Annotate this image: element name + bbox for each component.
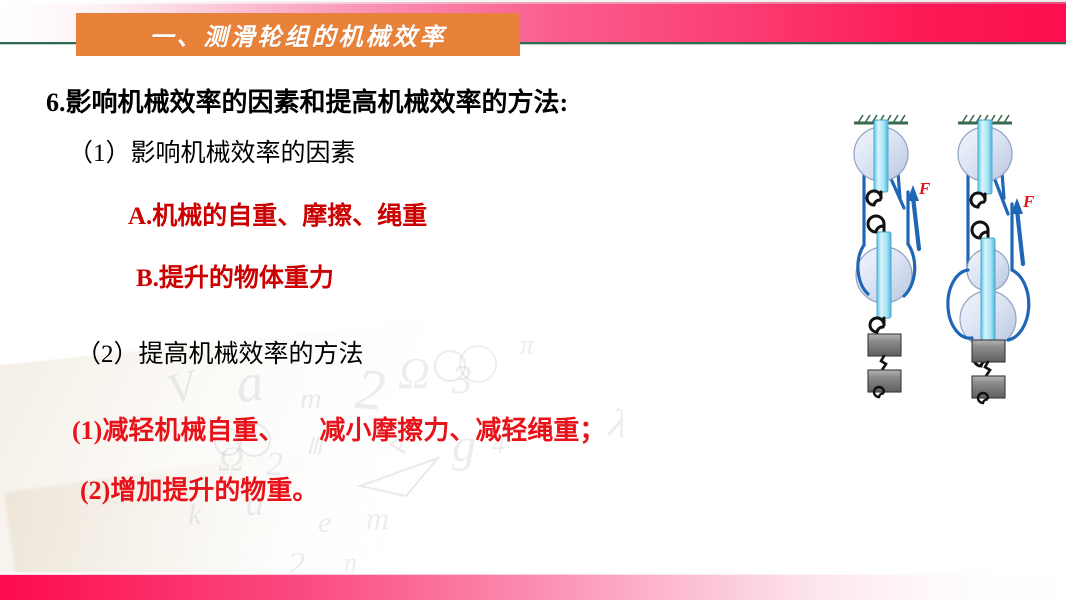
factor-item-a: A.机械的自重、摩擦、绳重 bbox=[128, 196, 427, 232]
right-force-label: F bbox=[1022, 192, 1035, 211]
slide-canvas: V a m 2 Ω 3 Ω 2 Ⅲ ∢ g 4 k a e m 2 n λ π bbox=[0, 0, 1066, 600]
right-movable-block-hook-icon bbox=[972, 222, 988, 240]
subsection-2-label: （2）提高机械效率的方法 bbox=[76, 334, 364, 370]
factor-item-b: B.提升的物体重力 bbox=[136, 258, 334, 294]
left-weight-lower bbox=[868, 370, 901, 392]
pulley-diagram-svg: F bbox=[838, 112, 1066, 412]
right-movable-block-yoke bbox=[981, 238, 995, 352]
left-fixed-pulley-hook-icon bbox=[867, 191, 881, 205]
method-item-1-part-b: 减小摩擦力、减轻绳重； bbox=[319, 416, 605, 445]
left-lower-hook-icon bbox=[870, 318, 884, 332]
right-weight-upper bbox=[972, 340, 1005, 362]
right-fixed-pulley-hook-icon bbox=[971, 193, 985, 207]
left-weight-upper bbox=[868, 334, 901, 356]
method-item-1: (1)减轻机械自重、 减小摩擦力、减轻绳重； bbox=[72, 410, 605, 447]
subsection-1-label: （1）影响机械效率的因素 bbox=[68, 133, 356, 169]
method-item-2: (2)增加提升的物重。 bbox=[80, 470, 318, 507]
right-pulley-figure: F bbox=[948, 115, 1035, 403]
left-weight-connector bbox=[881, 356, 886, 370]
pulley-diagrams: F bbox=[838, 112, 1066, 412]
left-movable-pulley-yoke bbox=[877, 232, 891, 318]
method-item-1-part-a: (1)减轻机械自重、 bbox=[72, 416, 284, 445]
right-fixed-pulley-yoke bbox=[978, 120, 992, 194]
right-weight-lower bbox=[972, 376, 1005, 398]
left-movable-block-hook-icon bbox=[868, 216, 884, 232]
right-weight-connector bbox=[985, 362, 990, 376]
left-force-label: F bbox=[918, 179, 931, 198]
left-pulley-figure: F bbox=[854, 115, 931, 397]
left-fixed-pulley-yoke bbox=[874, 120, 888, 192]
main-heading: 6.影响机械效率的因素和提高机械效率的方法: bbox=[46, 82, 568, 119]
